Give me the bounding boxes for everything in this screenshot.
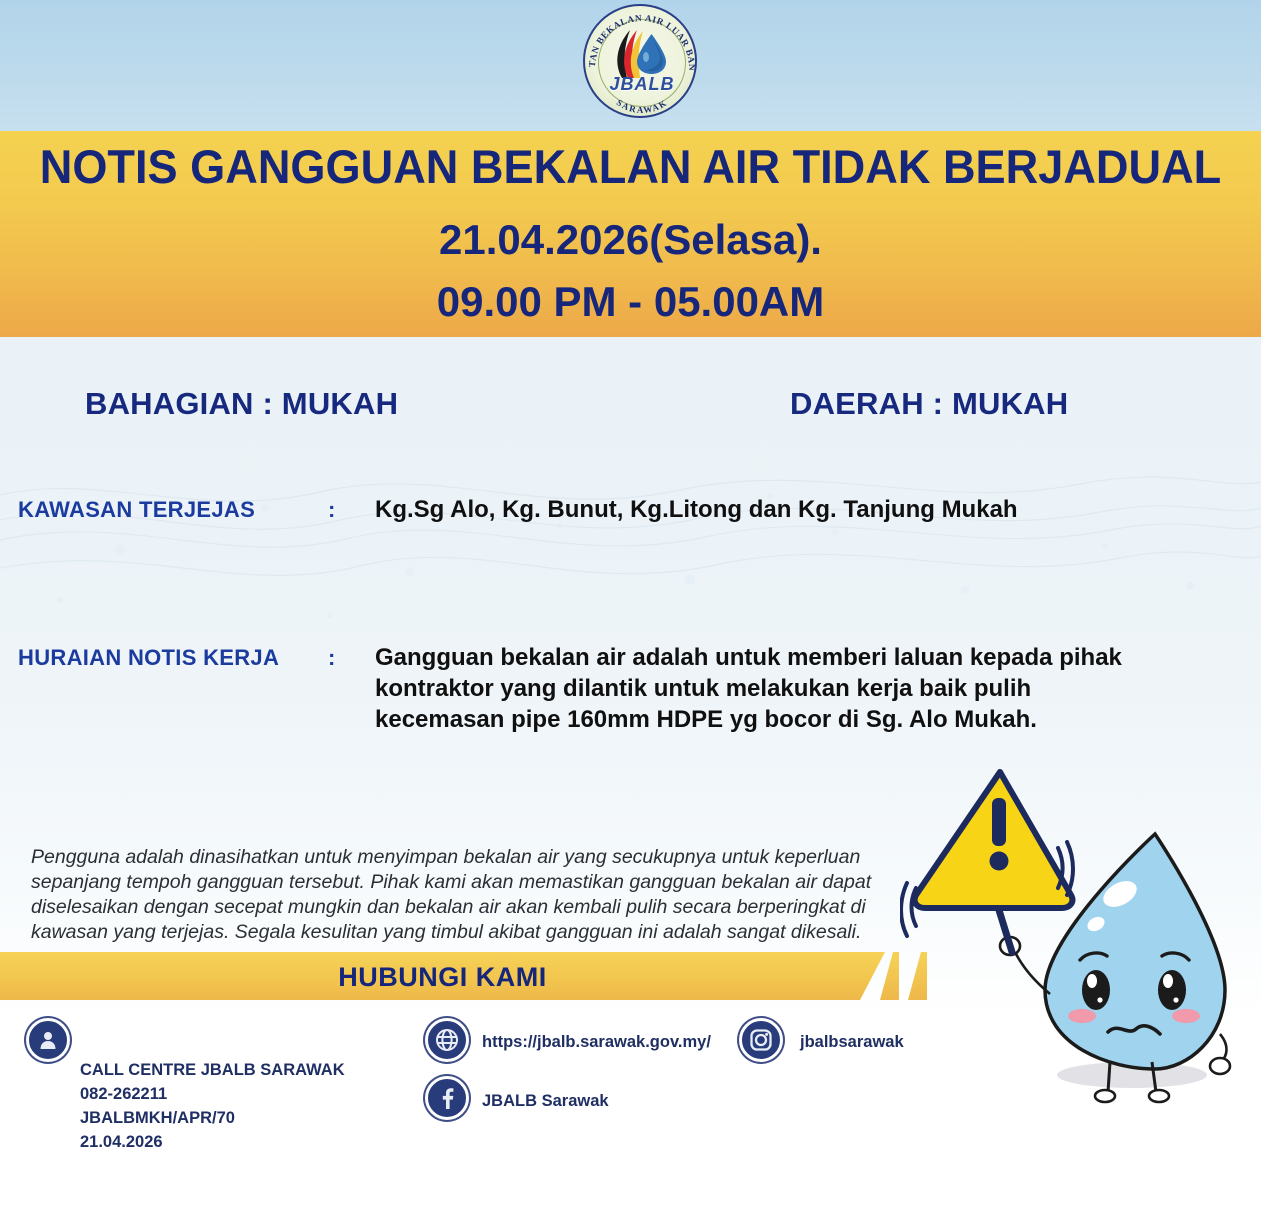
facebook-glyph	[435, 1086, 459, 1110]
call-centre-block: CALL CENTRE JBALB SARAWAK 082-262211 JBA…	[80, 1058, 345, 1154]
banner-stripe-2	[908, 952, 927, 1000]
blush-left	[1068, 1009, 1096, 1023]
eye-left	[1082, 970, 1110, 1010]
logo-arc-bottom-text: SARAWAK	[615, 97, 670, 115]
hand-right	[1210, 1058, 1230, 1074]
facebook-icon[interactable]	[425, 1076, 469, 1120]
warning-triangle-icon	[915, 772, 1073, 908]
facebook-handle[interactable]: JBALB Sarawak	[482, 1092, 609, 1111]
person-glyph	[37, 1029, 59, 1051]
blush-right	[1172, 1009, 1200, 1023]
logo-circle: JABATAN BEKALAN AIR LUAR BANDAR SARAWAK …	[583, 4, 697, 118]
daerah-label: DAERAH : MUKAH	[790, 386, 1068, 422]
water-disruption-notice-poster: JABATAN BEKALAN AIR LUAR BANDAR SARAWAK …	[0, 0, 1261, 1208]
globe-icon[interactable]	[425, 1018, 469, 1062]
instagram-handle[interactable]: jbalbsarawak	[800, 1033, 904, 1052]
kawasan-terjejas-value: Kg.Sg Alo, Kg. Bunut, Kg.Litong dan Kg. …	[375, 494, 1165, 525]
website-url[interactable]: https://jbalb.sarawak.gov.my/	[482, 1033, 711, 1052]
instagram-glyph	[749, 1028, 773, 1052]
call-centre-line-0: CALL CENTRE JBALB SARAWAK	[80, 1058, 345, 1082]
bahagian-label: BAHAGIAN : MUKAH	[85, 386, 398, 422]
header-bar: NOTIS GANGGUAN BEKALAN AIR TIDAK BERJADU…	[0, 131, 1261, 337]
jbalb-logo: JABATAN BEKALAN AIR LUAR BANDAR SARAWAK …	[583, 4, 700, 121]
foot-left	[1095, 1090, 1115, 1102]
notice-date: 21.04.2026(Selasa).	[0, 215, 1261, 265]
water-drop-icon	[635, 33, 668, 75]
huraian-notis-kerja-value: Gangguan bekalan air adalah untuk member…	[375, 642, 1165, 735]
huraian-notis-kerja-colon: :	[328, 645, 335, 671]
notice-time-range: 09.00 PM - 05.00AM	[0, 277, 1261, 327]
page-title: NOTIS GANGGUAN BEKALAN AIR TIDAK BERJADU…	[25, 141, 1236, 193]
call-centre-line-1: 082-262211	[80, 1082, 345, 1106]
banner-title: HUBUNGI KAMI	[0, 962, 885, 993]
call-centre-line-2: JBALBMKH/APR/70	[80, 1106, 345, 1130]
eye-right	[1158, 970, 1186, 1010]
kawasan-terjejas-label: KAWASAN TERJEJAS	[18, 497, 255, 523]
disclaimer-text: Pengguna adalah dinasihatkan untuk menyi…	[31, 845, 911, 945]
region-row: BAHAGIAN : MUKAH DAERAH : MUKAH	[0, 386, 1261, 428]
call-centre-line-3: 21.04.2026	[80, 1130, 345, 1154]
logo-band: JABATAN BEKALAN AIR LUAR BANDAR SARAWAK …	[0, 0, 1261, 131]
globe-glyph	[435, 1028, 459, 1052]
hubungi-kami-banner: HUBUNGI KAMI	[0, 952, 960, 1000]
logo-wordmark: JBALB	[585, 74, 697, 95]
huraian-notis-kerja-label: HURAIAN NOTIS KERJA	[18, 645, 279, 671]
svg-text:SARAWAK: SARAWAK	[615, 97, 670, 115]
person-icon[interactable]	[26, 1018, 70, 1062]
leg-left	[1108, 1062, 1110, 1092]
instagram-icon[interactable]	[739, 1018, 783, 1062]
foot-right	[1149, 1090, 1169, 1102]
kawasan-terjejas-colon: :	[328, 497, 335, 523]
